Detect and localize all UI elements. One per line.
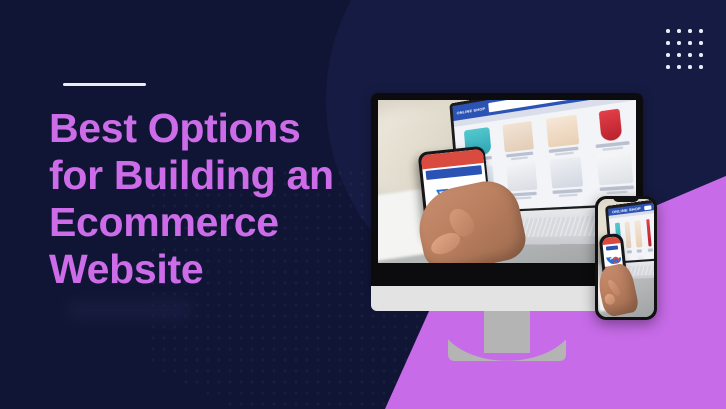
smartphone-mockup: ONLINE SHOP [595,196,657,320]
product-card [637,255,647,261]
monitor-stand-foot [448,339,566,361]
product-image [550,157,584,189]
blog-banner: Best Options for Building an Ecommerce W… [0,0,726,409]
grid-dot [699,53,703,57]
product-image [628,256,635,261]
product-card [544,157,591,199]
product-card [644,220,654,253]
product-card [627,256,637,261]
product-card [498,121,540,162]
product-image [646,220,652,247]
product-image [546,115,579,148]
product-card [587,107,636,153]
product-price-line [555,152,574,156]
product-card [540,114,586,157]
product-image [625,222,632,249]
product-price-line [515,197,532,200]
product-price-line [607,191,628,195]
grid-dot [666,53,670,57]
grid-dot [666,29,670,33]
product-title-line [637,250,642,253]
grid-dot [688,29,692,33]
phone-screen-photo: ONLINE SHOP [598,199,654,317]
product-image [597,152,634,186]
shopping-cart-icon [607,255,619,264]
app-header-bar [602,236,621,245]
phone-notch [613,196,639,202]
grid-dot [699,65,703,69]
product-image [638,255,645,261]
product-price-line [603,147,624,151]
product-image [635,221,642,248]
grid-dot [688,53,692,57]
app-search-bar [606,245,619,251]
dot-grid-decoration [666,29,710,77]
grid-dot [699,29,703,33]
product-title-line [627,251,632,254]
grid-dot [677,65,681,69]
product-price-line [559,194,578,197]
grid-dot [688,65,692,69]
product-image [599,109,624,142]
grid-dot [666,41,670,45]
product-card [624,222,634,254]
grid-dot [699,41,703,45]
product-image [503,122,533,153]
product-card [634,221,644,253]
phone-screen: ONLINE SHOP [598,199,654,317]
grid-dot [677,41,681,45]
product-title-line [601,186,635,191]
product-price-line [512,157,529,161]
product-card [591,152,636,196]
headline-shadow [68,303,190,317]
accent-rule [63,83,146,86]
grid-dot [677,29,681,33]
product-image [507,162,538,192]
product-title-line [647,249,652,252]
grid-dot [666,65,670,69]
product-title-line [553,189,583,194]
shop-search-bar [644,205,651,210]
grid-dot [688,41,692,45]
grid-dot [677,53,681,57]
shop-logo: ONLINE SHOP [457,106,486,116]
page-title: Best Options for Building an Ecommerce W… [49,105,379,293]
